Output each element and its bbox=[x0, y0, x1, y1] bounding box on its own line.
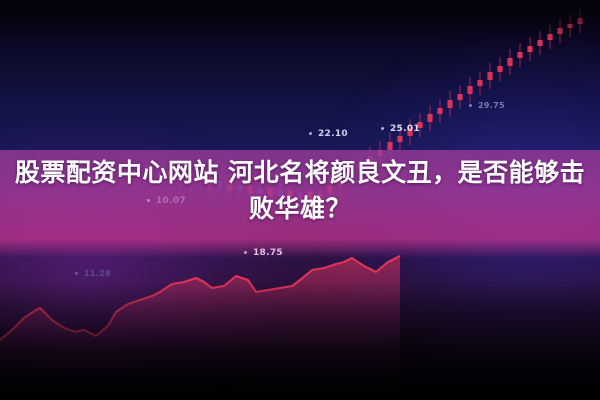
headline: 股票配资中心网站 河北名将颜良文丑，是否能够击败华雄？ bbox=[0, 155, 600, 227]
headline-overlay-band-fade bbox=[0, 240, 600, 258]
page-title: 股票配资中心网站 河北名将颜良文丑，是否能够击败华雄？ bbox=[8, 155, 592, 227]
area-line-series bbox=[0, 256, 400, 400]
banner-image: 22.1025.0129.7510.0718.7511.28 股票配资中心网站 … bbox=[0, 0, 600, 400]
